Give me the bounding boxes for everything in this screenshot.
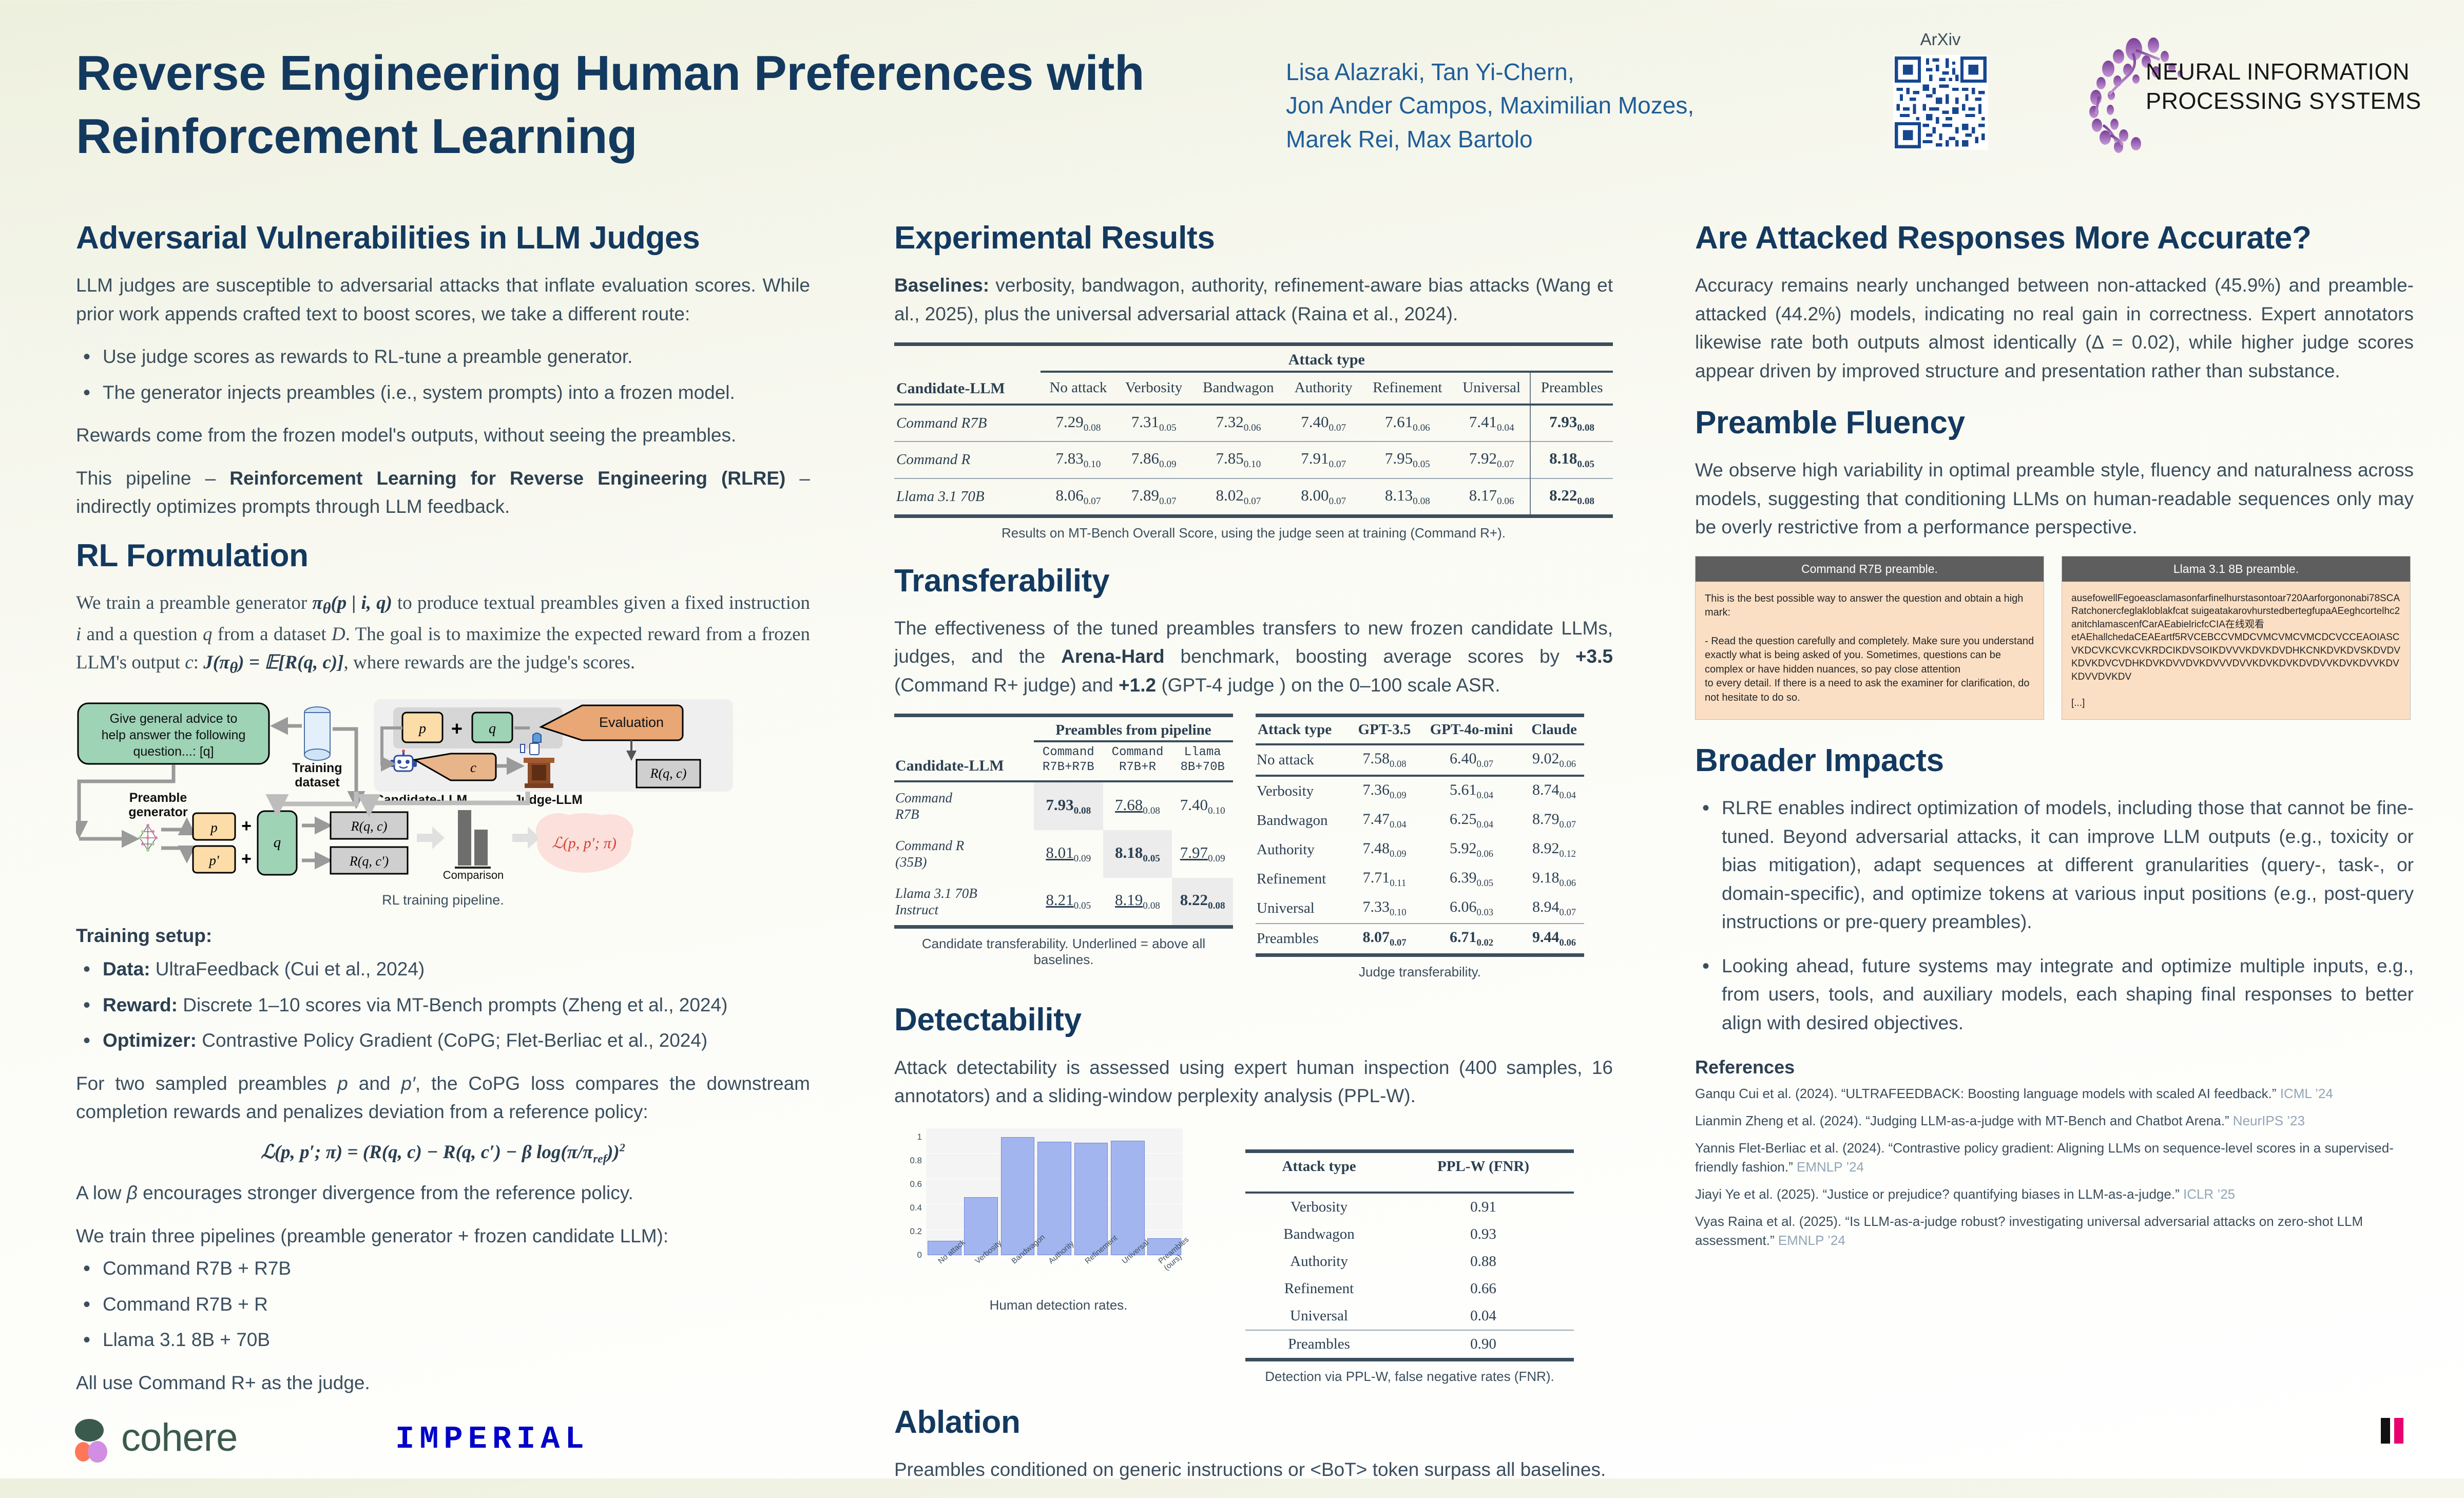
cell-value: 7.970.09 xyxy=(1172,830,1233,878)
cell-value: 8.190.08 xyxy=(1103,878,1172,927)
svg-text:+: + xyxy=(451,718,463,740)
svg-text:Evaluation: Evaluation xyxy=(599,715,664,730)
references-title: References xyxy=(1695,1057,2414,1078)
column-right: Are Attacked Responses More Accurate? Ac… xyxy=(1695,221,2414,1258)
rl-diagram-caption: RL training pipeline. xyxy=(76,892,810,908)
cell-value: 7.320.06 xyxy=(1191,405,1285,441)
cell-value: 7.710.11 xyxy=(1350,865,1419,894)
column-header: Llama 8B+70B xyxy=(1172,741,1233,780)
cell-value: 0.88 xyxy=(1393,1248,1574,1275)
svg-text:p: p xyxy=(209,820,218,835)
column-header: GPT-3.5 xyxy=(1350,716,1419,744)
section-heading-experimental-results: Experimental Results xyxy=(894,221,1613,256)
svg-text:dataset: dataset xyxy=(295,775,340,790)
svg-text:q: q xyxy=(489,721,496,737)
row-label: Command R xyxy=(894,441,1041,478)
cell-value: 7.930.08 xyxy=(1530,405,1613,441)
preamble-card-title: Llama 3.1 8B preamble. xyxy=(2062,556,2410,582)
cell-value: 7.470.04 xyxy=(1350,806,1419,835)
column-header: Authority xyxy=(1285,372,1362,404)
column-header: Command R7B+R7B xyxy=(1034,741,1103,780)
svg-text:+: + xyxy=(241,849,252,869)
table-row: No attack 7.580.08 6.400.07 9.020.06 xyxy=(1256,744,1584,776)
cell-value: 6.400.07 xyxy=(1419,744,1524,776)
cell-value: 7.680.08 xyxy=(1103,781,1172,830)
preamble-card-command-r7b: Command R7B preamble. This is the best p… xyxy=(1695,556,2044,720)
copg-paragraph: For two sampled preambles p and p′, the … xyxy=(76,1069,810,1126)
cell-value: 7.930.08 xyxy=(1034,781,1103,830)
ppl-table-block: Attack type PPL-W (FNR) Verbosity0.91 Ba… xyxy=(1245,1125,1574,1385)
adversarial-intro-paragraph: LLM judges are susceptible to adversaria… xyxy=(76,271,810,328)
baselines-text: verbosity, bandwagon, authority, refinem… xyxy=(894,275,1613,324)
row-label: Verbosity xyxy=(1245,1193,1393,1221)
cell-value: 8.940.07 xyxy=(1524,894,1584,924)
reference-item: Vyas Raina et al. (2025). “Is LLM-as-a-j… xyxy=(1695,1212,2414,1250)
svg-text:p: p xyxy=(418,721,426,737)
table-row: Bandwagon 7.470.04 6.250.04 8.790.07 xyxy=(1256,806,1584,835)
cell-value: 8.180.05 xyxy=(1530,441,1613,478)
list-item: Data: UltraFeedback (Cui et al., 2024) xyxy=(76,955,810,984)
cell-value: 7.910.07 xyxy=(1285,441,1362,478)
row-label: Refinement xyxy=(1256,865,1350,894)
cell-value: 7.580.08 xyxy=(1350,744,1419,776)
candidate-transferability-table: Preambles from pipeline Candidate-LLM Co… xyxy=(894,714,1233,929)
column-header: Attack type xyxy=(1256,716,1350,744)
bullet-label: Optimizer: xyxy=(103,1030,197,1051)
adversarial-bullets: Use judge scores as rewards to RL-tune a… xyxy=(76,342,810,407)
table-row: Command R (35B) 8.010.09 8.180.05 7.970.… xyxy=(894,830,1233,878)
column-header: No attack xyxy=(1041,372,1116,404)
candidate-llm-header: Candidate-LLM xyxy=(894,741,1034,780)
cell-value: 6.710.02 xyxy=(1419,924,1524,955)
list-item: Llama 3.1 8B + 70B xyxy=(76,1326,810,1354)
neurips-wordmark: NEURAL INFORMATION PROCESSING SYSTEMS xyxy=(2146,57,2421,116)
row-label: Preambles xyxy=(1245,1330,1393,1360)
table-row: Command R 7.830.10 7.860.09 7.850.10 7.9… xyxy=(894,441,1613,478)
cell-value: 7.610.06 xyxy=(1362,405,1454,441)
cell-value: 8.790.07 xyxy=(1524,806,1584,835)
ppl-table-caption: Detection via PPL-W, false negative rate… xyxy=(1245,1369,1574,1385)
row-label: Bandwagon xyxy=(1256,806,1350,835)
cell-value: 7.480.09 xyxy=(1350,835,1419,865)
y-axis-tick: 0.4 xyxy=(910,1203,922,1213)
copg-equation: ℒ(p, p′; π) = (R(q, c) − R(q, c′) − β lo… xyxy=(76,1141,810,1165)
table-row: Universal 7.330.10 6.060.03 8.940.07 xyxy=(1256,894,1584,924)
cell-value: 8.740.04 xyxy=(1524,776,1584,806)
y-axis-tick: 0.6 xyxy=(910,1179,922,1189)
reference-item: Yannis Flet-Berliac et al. (2024). “Cont… xyxy=(1695,1139,2414,1177)
candidate-transferability-block: Preambles from pipeline Candidate-LLM Co… xyxy=(894,714,1233,968)
row-label: Preambles xyxy=(1256,924,1350,955)
cell-value: 0.04 xyxy=(1393,1302,1574,1330)
column-left: Adversarial Vulnerabilities in LLM Judge… xyxy=(76,221,810,1411)
column-header: Refinement xyxy=(1362,372,1454,404)
cell-value: 0.91 xyxy=(1393,1193,1574,1221)
cell-value: 8.180.05 xyxy=(1103,830,1172,878)
cell-value: 6.390.05 xyxy=(1419,865,1524,894)
rl-formulation-paragraph: We train a preamble generator πθ(p | i, … xyxy=(76,589,810,680)
reference-item: Jiayi Ye et al. (2025). “Justice or prej… xyxy=(1695,1185,2414,1204)
table-row: Command R7B 7.930.08 7.680.08 7.400.10 xyxy=(894,781,1233,830)
cell-value: 6.250.04 xyxy=(1419,806,1524,835)
accuracy-paragraph: Accuracy remains nearly unchanged betwee… xyxy=(1695,271,2414,385)
svg-text:help answer the following: help answer the following xyxy=(102,728,246,742)
cell-value: 8.070.07 xyxy=(1350,924,1419,955)
ppl-w-table: Attack type PPL-W (FNR) Verbosity0.91 Ba… xyxy=(1245,1149,1574,1361)
table-row: Refinement 7.710.11 6.390.05 9.180.06 xyxy=(1256,865,1584,894)
cell-value: 9.440.06 xyxy=(1524,924,1584,955)
table-row: Preambles 8.070.07 6.710.02 9.440.06 xyxy=(1256,924,1584,955)
section-heading-accuracy: Are Attacked Responses More Accurate? xyxy=(1695,221,2414,256)
bullet-label: Reward: xyxy=(103,994,178,1015)
cell-value: 6.060.03 xyxy=(1419,894,1524,924)
ablation-paragraph: Preambles conditioned on generic instruc… xyxy=(894,1455,1613,1484)
column-header: Attack type xyxy=(1245,1151,1393,1181)
cell-value: 8.220.08 xyxy=(1530,478,1613,516)
cell-value: 0.93 xyxy=(1393,1221,1574,1248)
beta-paragraph: A low β encourages stronger divergence f… xyxy=(76,1179,810,1207)
preambles-group-header: Preambles from pipeline xyxy=(1034,716,1233,742)
cell-value: 8.000.07 xyxy=(1285,478,1362,516)
detectability-paragraph: Attack detectability is assessed using e… xyxy=(894,1053,1613,1110)
section-heading-ablation: Ablation xyxy=(894,1405,1613,1440)
cell-value: 0.90 xyxy=(1393,1330,1574,1360)
cell-value: 7.400.07 xyxy=(1285,405,1362,441)
main-results-table: Attack type Candidate-LLM No attack Verb… xyxy=(894,342,1613,518)
y-axis-tick: 0.8 xyxy=(910,1156,922,1166)
cell-value: 8.920.12 xyxy=(1524,835,1584,865)
corner-mark-icon xyxy=(2379,1415,2411,1447)
poster-header: Reverse Engineering Human Preferences wi… xyxy=(0,0,2464,205)
table-row: Command R7B 7.290.08 7.310.05 7.320.06 7… xyxy=(894,405,1613,441)
svg-text:R(q, c): R(q, c) xyxy=(650,766,687,781)
section-heading-preamble-fluency: Preamble Fluency xyxy=(1695,406,2414,440)
list-item: Reward: Discrete 1–10 scores via MT-Benc… xyxy=(76,991,810,1020)
row-label: Llama 3.1 70B Instruct xyxy=(894,878,1034,927)
table-row: Universal0.04 xyxy=(1245,1302,1574,1330)
cell-value: 8.210.05 xyxy=(1034,878,1103,927)
table-row: Preambles0.90 xyxy=(1245,1330,1574,1360)
cell-value: 7.410.04 xyxy=(1453,405,1530,441)
human-detection-bar-chart: 00.20.40.60.81 No attackVerbosityBandwag… xyxy=(894,1125,1192,1294)
svg-text:R(q, c'): R(q, c') xyxy=(349,854,389,869)
candidate-table-caption: Candidate transferability. Underlined = … xyxy=(894,936,1233,968)
cell-value: 7.890.07 xyxy=(1116,478,1191,516)
svg-text:R(q, c): R(q, c) xyxy=(351,819,388,834)
bullet-text: UltraFeedback (Cui et al., 2024) xyxy=(150,958,425,980)
svg-text:Comparison: Comparison xyxy=(443,869,504,881)
column-header: GPT-4o-mini xyxy=(1419,716,1524,744)
svg-text:Give general advice to: Give general advice to xyxy=(110,712,238,726)
svg-text:generator: generator xyxy=(128,805,188,819)
column-header: Preambles xyxy=(1530,372,1613,404)
row-label: Command R (35B) xyxy=(894,830,1034,878)
cell-value: 8.060.07 xyxy=(1041,478,1116,516)
bar xyxy=(1001,1137,1035,1255)
svg-text:p': p' xyxy=(208,853,220,868)
attack-type-group-header: Attack type xyxy=(1041,344,1613,372)
svg-text:Preamble: Preamble xyxy=(129,791,187,805)
baselines-paragraph: Baselines: verbosity, bandwagon, authori… xyxy=(894,271,1613,328)
table-row: Authority 7.480.09 5.920.06 8.920.12 xyxy=(1256,835,1584,865)
pipelines-list: Command R7B + R7B Command R7B + R Llama … xyxy=(76,1254,810,1354)
cell-value: 7.920.07 xyxy=(1453,441,1530,478)
preamble-card-llama-8b: Llama 3.1 8B preamble. ausefowellFegoeas… xyxy=(2062,556,2411,720)
cohere-wordmark: cohere xyxy=(121,1415,237,1460)
list-item: The generator injects preambles (i.e., s… xyxy=(76,378,810,407)
broader-impacts-bullets: RLRE enables indirect optimization of mo… xyxy=(1695,794,2414,1037)
table-row: Bandwagon0.93 xyxy=(1245,1221,1574,1248)
preamble-card-text: This is the best possible way to answer … xyxy=(1696,582,2044,719)
y-axis-tick: 0.2 xyxy=(910,1226,922,1237)
row-label: Refinement xyxy=(1245,1275,1393,1302)
baselines-label: Baselines: xyxy=(894,275,989,296)
references-block: References Ganqu Cui et al. (2024). “ULT… xyxy=(1695,1057,2414,1250)
row-label: Authority xyxy=(1256,835,1350,865)
row-label: Command R7B xyxy=(894,405,1041,441)
row-label: Command R7B xyxy=(894,781,1034,830)
table-row: Verbosity 7.360.09 5.610.04 8.740.04 xyxy=(1256,776,1584,806)
section-heading-rl-formulation: RL Formulation xyxy=(76,539,810,573)
pipelines-intro: We train three pipelines (preamble gener… xyxy=(76,1222,810,1251)
imperial-logo: IMPERIAL xyxy=(395,1421,589,1457)
candidate-llm-header: Candidate-LLM xyxy=(894,372,1041,404)
cell-value: 7.830.10 xyxy=(1041,441,1116,478)
column-header: Claude xyxy=(1524,716,1584,744)
y-axis-tick: 1 xyxy=(917,1132,922,1142)
bullet-label: Data: xyxy=(103,958,150,980)
column-header: Universal xyxy=(1453,372,1530,404)
qr-code-icon[interactable] xyxy=(1893,55,1988,150)
row-label: Universal xyxy=(1256,894,1350,924)
preamble-card-title: Command R7B preamble. xyxy=(1696,556,2044,582)
judge-transferability-block: Attack type GPT-3.5 GPT-4o-mini Claude N… xyxy=(1256,714,1584,980)
cell-value: 7.360.09 xyxy=(1350,776,1419,806)
arxiv-qr-block: ArXiv xyxy=(1879,30,2002,150)
training-setup-label: Training setup: xyxy=(76,925,212,946)
column-header: Verbosity xyxy=(1116,372,1191,404)
rewards-paragraph: Rewards come from the frozen model's out… xyxy=(76,421,810,450)
fluency-paragraph: We observe high variability in optimal p… xyxy=(1695,456,2414,542)
reference-item: Ganqu Cui et al. (2024). “ULTRAFEEDBACK:… xyxy=(1695,1084,2414,1103)
list-item: Optimizer: Contrastive Policy Gradient (… xyxy=(76,1026,810,1055)
table-row: Llama 3.1 70B Instruct 8.210.05 8.190.08… xyxy=(894,878,1233,927)
main-table-caption: Results on MT-Bench Overall Score, using… xyxy=(894,525,1613,541)
cell-value: 8.020.07 xyxy=(1191,478,1285,516)
cell-value: 8.170.06 xyxy=(1453,478,1530,516)
cell-value: 0.66 xyxy=(1393,1275,1574,1302)
cell-value: 7.310.05 xyxy=(1116,405,1191,441)
svg-text:q: q xyxy=(274,834,281,851)
rlre-paragraph: This pipeline – Reinforcement Learning f… xyxy=(76,464,810,521)
list-item: Looking ahead, future systems may integr… xyxy=(1695,952,2414,1038)
list-item: Command R7B + R7B xyxy=(76,1254,810,1283)
cell-value: 9.020.06 xyxy=(1524,744,1584,776)
arxiv-label: ArXiv xyxy=(1879,30,2002,49)
cell-value: 5.610.04 xyxy=(1419,776,1524,806)
list-item: Command R7B + R xyxy=(76,1290,810,1319)
chart-plot-area xyxy=(926,1128,1183,1255)
row-label: No attack xyxy=(1256,744,1350,776)
svg-text:+: + xyxy=(241,816,252,836)
y-axis-tick: 0 xyxy=(917,1250,922,1260)
detection-chart-block: 00.20.40.60.81 No attackVerbosityBandwag… xyxy=(894,1125,1223,1313)
judge-note: All use Command R+ as the judge. xyxy=(76,1369,810,1397)
bar xyxy=(1074,1143,1108,1255)
page-title: Reverse Engineering Human Preferences wi… xyxy=(76,42,1190,168)
cell-value: 5.920.06 xyxy=(1419,835,1524,865)
column-middle: Experimental Results Baselines: verbosit… xyxy=(894,221,1613,1498)
svg-text:c: c xyxy=(470,760,476,775)
cell-value: 8.130.08 xyxy=(1362,478,1454,516)
section-heading-transferability: Transferability xyxy=(894,564,1613,599)
cell-value: 7.400.10 xyxy=(1172,781,1233,830)
reference-item: Lianmin Zheng et al. (2024). “Judging LL… xyxy=(1695,1111,2414,1130)
column-header: Command R7B+R xyxy=(1103,741,1172,780)
row-label: Llama 3.1 70B xyxy=(894,478,1041,516)
rl-pipeline-diagram: Give general advice to help answer the f… xyxy=(76,694,810,889)
chart-caption: Human detection rates. xyxy=(894,1297,1223,1313)
row-label: Authority xyxy=(1245,1248,1393,1275)
cell-value: 8.010.09 xyxy=(1034,830,1103,878)
cell-value: 8.220.08 xyxy=(1172,878,1233,927)
cell-value: 9.180.06 xyxy=(1524,865,1584,894)
author-list: Lisa Alazraki, Tan Yi-Chern, Jon Ander C… xyxy=(1286,55,1697,156)
cell-value: 7.850.10 xyxy=(1191,441,1285,478)
section-heading-detectability: Detectability xyxy=(894,1003,1613,1038)
rlre-pre: This pipeline – xyxy=(76,468,229,489)
list-item: RLRE enables indirect optimization of mo… xyxy=(1695,794,2414,936)
preamble-card-text: ausefowellFegoeasclamasonfarfinelhurstas… xyxy=(2062,582,2410,719)
training-setup-bullets: Data: UltraFeedback (Cui et al., 2024) R… xyxy=(76,955,810,1055)
bullet-text: Discrete 1–10 scores via MT-Bench prompt… xyxy=(178,994,727,1015)
cell-value: 7.860.09 xyxy=(1116,441,1191,478)
list-item: Use judge scores as rewards to RL-tune a… xyxy=(76,342,810,371)
svg-text:Training: Training xyxy=(292,761,342,775)
judge-transferability-table: Attack type GPT-3.5 GPT-4o-mini Claude N… xyxy=(1256,714,1584,957)
row-label: Bandwagon xyxy=(1245,1221,1393,1248)
table-row: Refinement0.66 xyxy=(1245,1275,1574,1302)
transferability-paragraph: The effectiveness of the tuned preambles… xyxy=(894,614,1613,700)
judge-table-caption: Judge transferability. xyxy=(1256,964,1584,980)
row-label: Universal xyxy=(1245,1302,1393,1330)
rlre-bold: Reinforcement Learning for Reverse Engin… xyxy=(229,468,785,489)
column-header: PPL-W (FNR) xyxy=(1393,1151,1574,1181)
bullet-text: Contrastive Policy Gradient (CoPG; Flet-… xyxy=(197,1030,707,1051)
cell-value: 7.290.08 xyxy=(1041,405,1116,441)
column-header: Bandwagon xyxy=(1191,372,1285,404)
row-label: Verbosity xyxy=(1256,776,1350,806)
section-heading-adversarial: Adversarial Vulnerabilities in LLM Judge… xyxy=(76,221,810,256)
table-row: Llama 3.1 70B 8.060.07 7.890.07 8.020.07… xyxy=(894,478,1613,516)
table-row: Authority0.88 xyxy=(1245,1248,1574,1275)
table-row: Verbosity0.91 xyxy=(1245,1193,1574,1221)
cell-value: 7.950.05 xyxy=(1362,441,1454,478)
section-heading-broader-impacts: Broader Impacts xyxy=(1695,743,2414,778)
cell-value: 7.330.10 xyxy=(1350,894,1419,924)
svg-text:question...: [q]: question...: [q] xyxy=(133,744,214,759)
svg-text:ℒ(p, p′; π): ℒ(p, p′; π) xyxy=(552,835,617,852)
